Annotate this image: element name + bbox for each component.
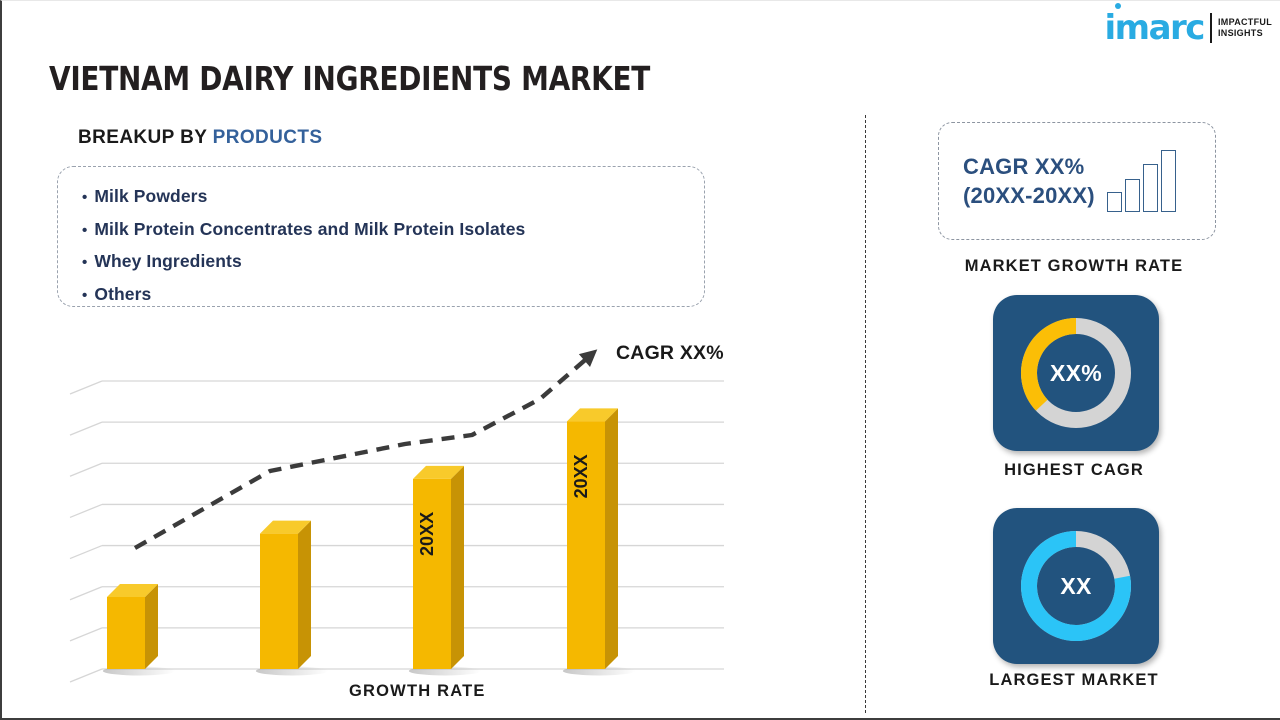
largest-market-value: XX xyxy=(993,508,1159,664)
list-item: • Milk Protein Concentrates and Milk Pro… xyxy=(82,214,684,247)
gridline-perspective-tick xyxy=(70,463,102,476)
gridline-perspective-tick xyxy=(70,504,102,517)
largest-market-caption: LARGEST MARKET xyxy=(866,671,1280,690)
subtitle-prefix: BREAKUP BY xyxy=(78,127,213,148)
bar-chart-icon xyxy=(1107,150,1176,212)
bar-side-face xyxy=(605,408,618,669)
page-title: VIETNAM DAIRY INGREDIENTS MARKET xyxy=(49,59,650,98)
chart-svg: 20XX20XX xyxy=(2,331,802,720)
market-growth-rate-caption: MARKET GROWTH RATE xyxy=(866,257,1280,276)
bar-front-face xyxy=(260,534,298,669)
bar-side-face xyxy=(298,521,311,669)
gridline-perspective-tick xyxy=(70,669,102,682)
infographic-page: imarc IMPACTFUL INSIGHTS VIETNAM DAIRY I… xyxy=(0,0,1280,720)
chart-bars: 20XX20XX xyxy=(103,408,635,675)
highest-cagr-caption: HIGHEST CAGR xyxy=(866,461,1280,480)
growth-rate-bar-chart: 20XX20XX xyxy=(2,331,802,720)
bullet-icon: • xyxy=(82,216,87,247)
gridline-perspective-tick xyxy=(70,422,102,435)
section-subtitle: BREAKUP BY PRODUCTS xyxy=(78,127,322,149)
chart-gridlines xyxy=(70,381,724,682)
highest-cagr-value: XX% xyxy=(993,295,1159,451)
bar-value-label: 20XX xyxy=(571,454,591,498)
chart-trend-line xyxy=(135,349,597,548)
list-item: • Whey Ingredients xyxy=(82,246,684,279)
bullet-icon: • xyxy=(82,183,87,214)
growth-rate-value: CAGR XX% (20XX-20XX) xyxy=(963,152,1095,210)
list-item-label: Others xyxy=(94,279,151,310)
logo-tagline-line2: INSIGHTS xyxy=(1218,28,1272,39)
imarc-logo: imarc IMPACTFUL INSIGHTS xyxy=(1105,11,1272,45)
chart-x-axis-label: GROWTH RATE xyxy=(349,682,486,701)
growth-rate-line2: (20XX-20XX) xyxy=(963,181,1095,210)
bar-value-label: 20XX xyxy=(417,512,437,556)
highest-cagr-card: XX% xyxy=(993,295,1159,451)
bar-side-face xyxy=(451,466,464,669)
list-item-label: Whey Ingredients xyxy=(94,246,241,277)
list-item: • Milk Powders xyxy=(82,181,684,214)
largest-market-card: XX xyxy=(993,508,1159,664)
logo-tagline: IMPACTFUL INSIGHTS xyxy=(1218,17,1272,39)
gridline-perspective-tick xyxy=(70,546,102,559)
logo-dot-icon xyxy=(1115,3,1121,9)
market-growth-rate-box: CAGR XX% (20XX-20XX) xyxy=(938,122,1216,240)
subtitle-accent: PRODUCTS xyxy=(213,127,323,148)
bar-front-face xyxy=(107,597,145,669)
bullet-icon: • xyxy=(82,281,87,312)
growth-rate-line1: CAGR XX% xyxy=(963,152,1095,181)
list-item-label: Milk Protein Concentrates and Milk Prote… xyxy=(94,214,525,245)
products-list-box: • Milk Powders • Milk Protein Concentrat… xyxy=(57,166,705,307)
gridline-perspective-tick xyxy=(70,587,102,600)
gridline-perspective-tick xyxy=(70,628,102,641)
bar-front-face xyxy=(413,479,451,669)
logo-tagline-line1: IMPACTFUL xyxy=(1218,17,1272,28)
bullet-icon: • xyxy=(82,248,87,279)
logo-wordmark: imarc xyxy=(1105,11,1204,45)
bar-side-face xyxy=(145,584,158,669)
list-item-label: Milk Powders xyxy=(94,181,207,212)
gridline-perspective-tick xyxy=(70,381,102,394)
panel-divider xyxy=(865,115,866,713)
chart-cagr-callout: CAGR XX% xyxy=(616,342,724,365)
logo-wordmark-text: imarc xyxy=(1105,8,1204,48)
logo-divider xyxy=(1210,13,1212,43)
list-item: • Others xyxy=(82,279,684,312)
